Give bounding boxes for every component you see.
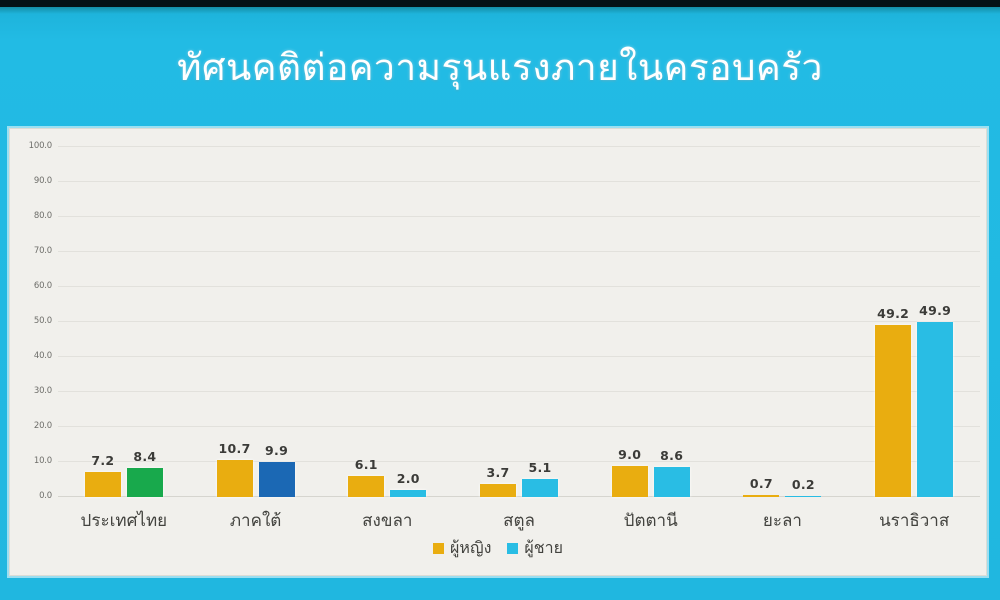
chart-bar-item[interactable]: 0.7: [743, 495, 779, 497]
chart-bar[interactable]: [127, 468, 163, 497]
chart-legend-swatch: [433, 543, 444, 554]
y-axis-tick-label: 70.0: [34, 246, 52, 256]
chart-bar-group: 10.79.9: [190, 460, 322, 497]
chart-bar-group: 49.249.9: [848, 322, 980, 497]
chart-bar-group: 7.28.4: [58, 468, 190, 497]
chart-bar-value-label: 7.2: [91, 453, 114, 468]
chart-bar-value-label: 49.9: [919, 303, 951, 318]
x-axis-category-label: ปัตตานี: [624, 507, 678, 534]
chart-bar[interactable]: [217, 460, 253, 497]
y-axis-tick-label: 0.0: [39, 491, 52, 501]
chart-bar-value-label: 3.7: [486, 465, 509, 480]
chart-bar-group: 3.75.1: [453, 479, 585, 497]
chart-bar-value-label: 2.0: [397, 471, 420, 486]
x-axis-category-label: นราธิวาส: [879, 507, 949, 534]
chart-bar[interactable]: [348, 476, 384, 497]
chart-bars-layer: 7.28.410.79.96.12.03.75.19.08.60.70.249.…: [58, 139, 980, 497]
chart-bar-item[interactable]: 8.6: [654, 467, 690, 497]
chart-bar-item[interactable]: 7.2: [85, 472, 121, 497]
chart-bar[interactable]: [612, 466, 648, 498]
chart-bar-value-label: 0.7: [750, 476, 773, 491]
chart-bar-item[interactable]: 0.2: [785, 496, 821, 497]
chart-bar-item[interactable]: 2.0: [390, 490, 426, 497]
chart-bar-group: 6.12.0: [321, 476, 453, 497]
x-axis-category-label: ยะลา: [763, 507, 802, 534]
x-axis-category-label: สงขลา: [362, 507, 412, 534]
chart-bar-item[interactable]: 3.7: [480, 484, 516, 497]
y-axis-tick-label: 80.0: [34, 211, 52, 221]
chart-bar-value-label: 9.0: [618, 447, 641, 462]
chart-bar-value-label: 9.9: [265, 443, 288, 458]
y-axis-tick-label: 90.0: [34, 176, 52, 186]
y-axis-tick-label: 20.0: [34, 421, 52, 431]
chart-bar-value-label: 6.1: [355, 457, 378, 472]
chart-bar-item[interactable]: 9.0: [612, 466, 648, 498]
chart-x-axis-labels: ประเทศไทยภาคใต้สงขลาสตูลปัตตานียะลานราธิ…: [58, 507, 980, 533]
y-axis-tick-label: 60.0: [34, 281, 52, 291]
chart-legend-item[interactable]: ผู้ชาย: [507, 536, 563, 561]
chart-legend: ผู้หญิงผู้ชาย: [10, 536, 986, 561]
chart-bar-item[interactable]: 8.4: [127, 468, 163, 497]
chart-bar-item[interactable]: 5.1: [522, 479, 558, 497]
chart-bar-value-label: 49.2: [877, 306, 909, 321]
slide-top-strip: [0, 0, 1000, 7]
chart-bar[interactable]: [480, 484, 516, 497]
chart-bar[interactable]: [785, 496, 821, 497]
chart-bar[interactable]: [917, 322, 953, 497]
y-axis-tick-label: 50.0: [34, 316, 52, 326]
chart-bar-item[interactable]: 6.1: [348, 476, 384, 497]
chart-legend-item[interactable]: ผู้หญิง: [433, 536, 491, 561]
presentation-slide: ทัศนคติต่อความรุนแรงภายในครอบครัว 100.09…: [0, 0, 1000, 600]
chart-bar-group: 9.08.6: [585, 466, 717, 498]
chart-plot-area: 100.090.080.070.060.050.040.030.020.010.…: [58, 139, 980, 497]
chart-bar-item[interactable]: 49.2: [875, 325, 911, 497]
y-axis-tick-label: 30.0: [34, 386, 52, 396]
chart-bar-item[interactable]: 9.9: [259, 462, 295, 497]
x-axis-category-label: สตูล: [503, 507, 535, 534]
page-title: ทัศนคติต่อความรุนแรงภายในครอบครัว: [0, 38, 1000, 97]
chart-bar-value-label: 10.7: [219, 441, 251, 456]
chart-bar[interactable]: [743, 495, 779, 497]
chart-bar[interactable]: [522, 479, 558, 497]
chart-legend-swatch: [507, 543, 518, 554]
chart-bar-value-label: 5.1: [528, 460, 551, 475]
chart-bar-value-label: 0.2: [792, 477, 815, 492]
chart-bar-value-label: 8.6: [660, 448, 683, 463]
chart-legend-label: ผู้ชาย: [524, 536, 563, 561]
chart-panel: 100.090.080.070.060.050.040.030.020.010.…: [9, 128, 987, 576]
chart-bar[interactable]: [85, 472, 121, 497]
chart-bar[interactable]: [875, 325, 911, 497]
chart-legend-label: ผู้หญิง: [450, 536, 491, 561]
y-axis-tick-label: 10.0: [34, 456, 52, 466]
chart-bar-item[interactable]: 10.7: [217, 460, 253, 497]
y-axis-tick-label: 100.0: [29, 141, 52, 151]
x-axis-category-label: ประเทศไทย: [81, 507, 168, 534]
chart-bar-value-label: 8.4: [133, 449, 156, 464]
chart-bar-group: 0.70.2: [717, 495, 849, 497]
chart-bar[interactable]: [390, 490, 426, 497]
x-axis-category-label: ภาคใต้: [230, 507, 281, 534]
chart-bar[interactable]: [654, 467, 690, 497]
chart-bar-item[interactable]: 49.9: [917, 322, 953, 497]
y-axis-tick-label: 40.0: [34, 351, 52, 361]
chart-bar[interactable]: [259, 462, 295, 497]
